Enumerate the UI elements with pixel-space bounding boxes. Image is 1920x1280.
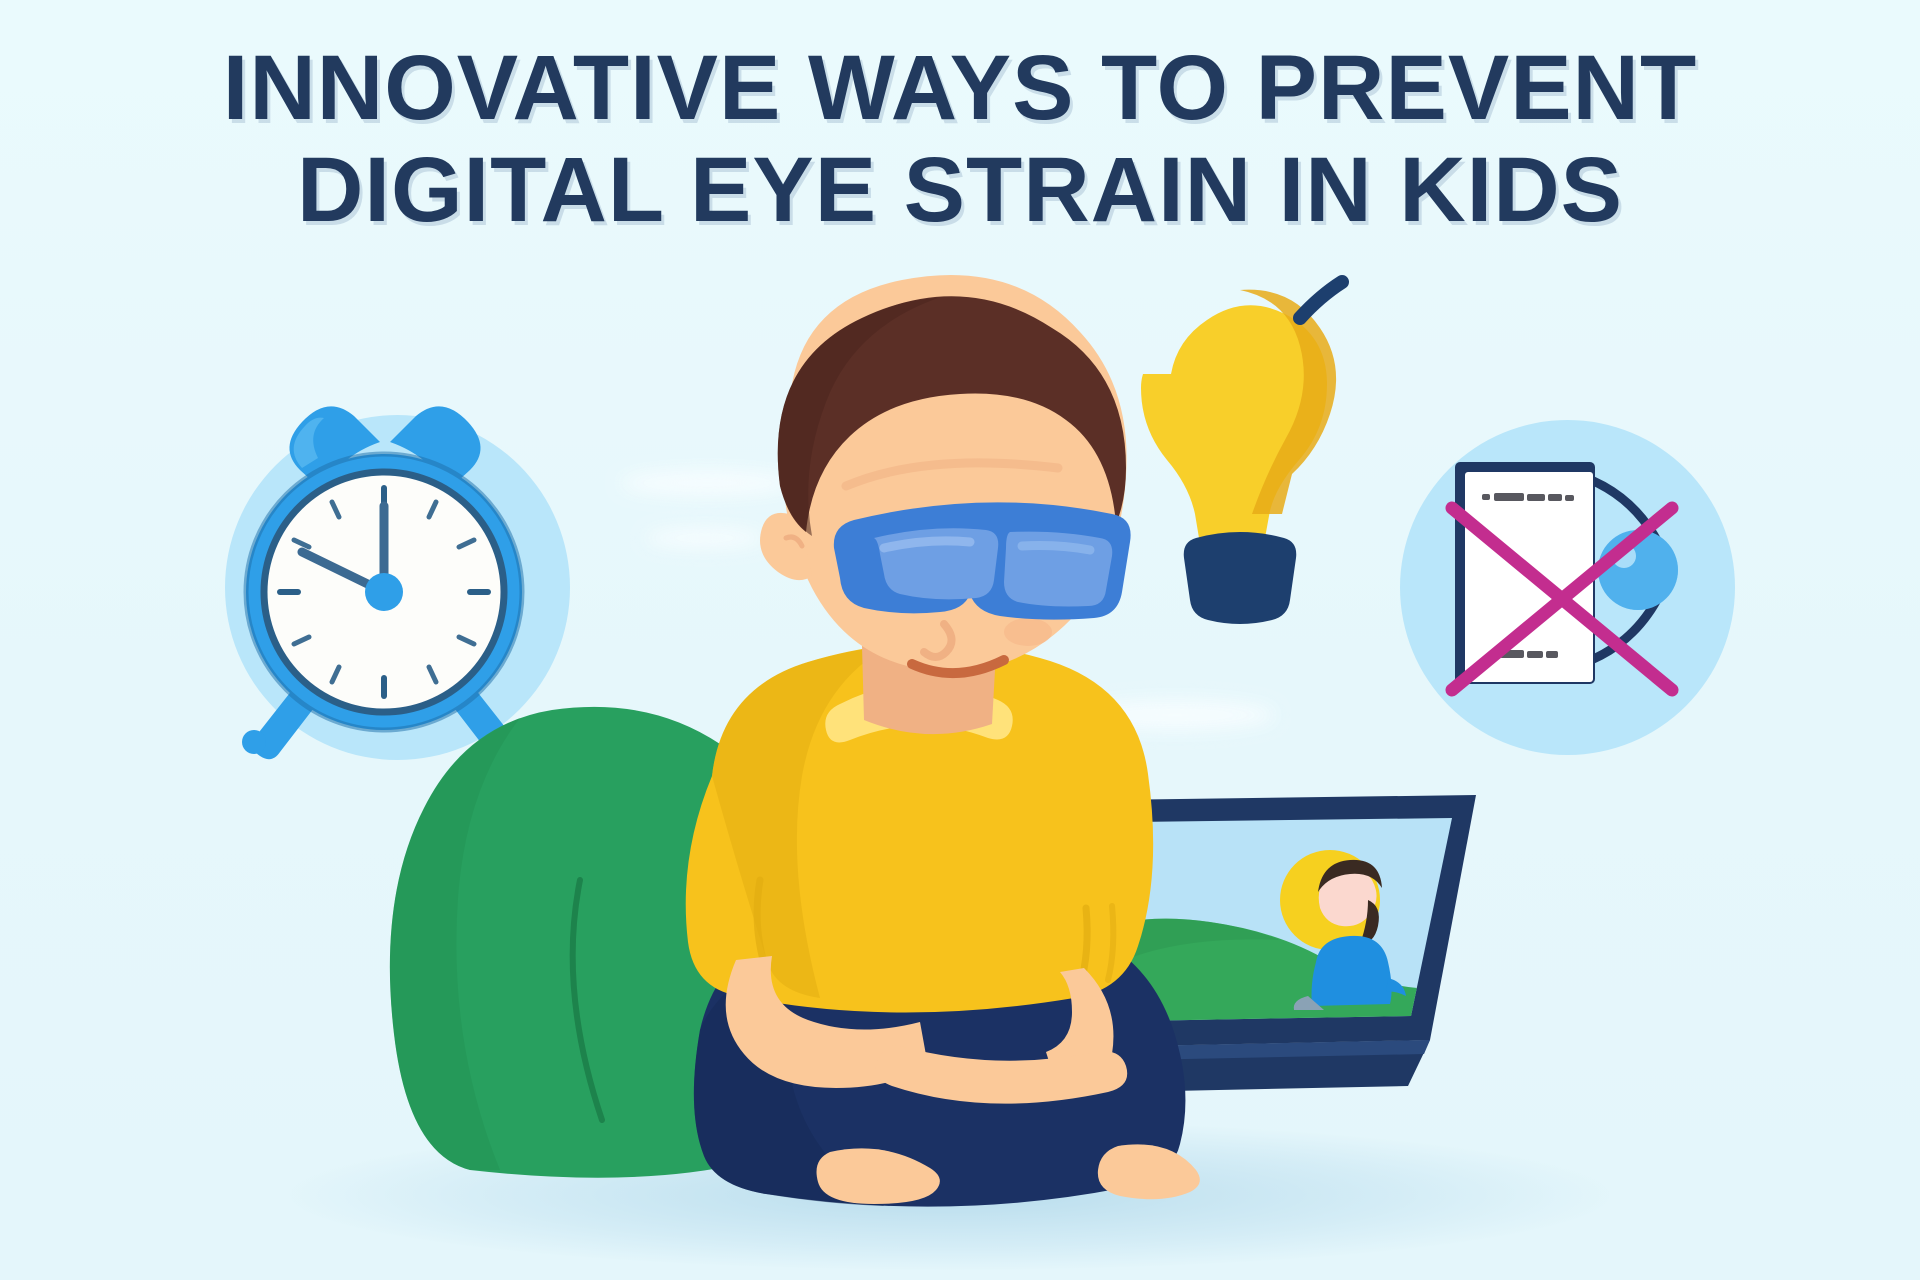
page-title: INNOVATIVE WAYS TO PREVENT DIGITAL EYE S…	[0, 42, 1920, 238]
blue-light-glasses	[834, 502, 1131, 619]
title-line-2: DIGITAL EYE STRAIN IN KIDS	[0, 144, 1920, 238]
title-line-1: INNOVATIVE WAYS TO PREVENT	[0, 42, 1920, 136]
poster-canvas: INNOVATIVE WAYS TO PREVENT DIGITAL EYE S…	[0, 0, 1920, 1280]
